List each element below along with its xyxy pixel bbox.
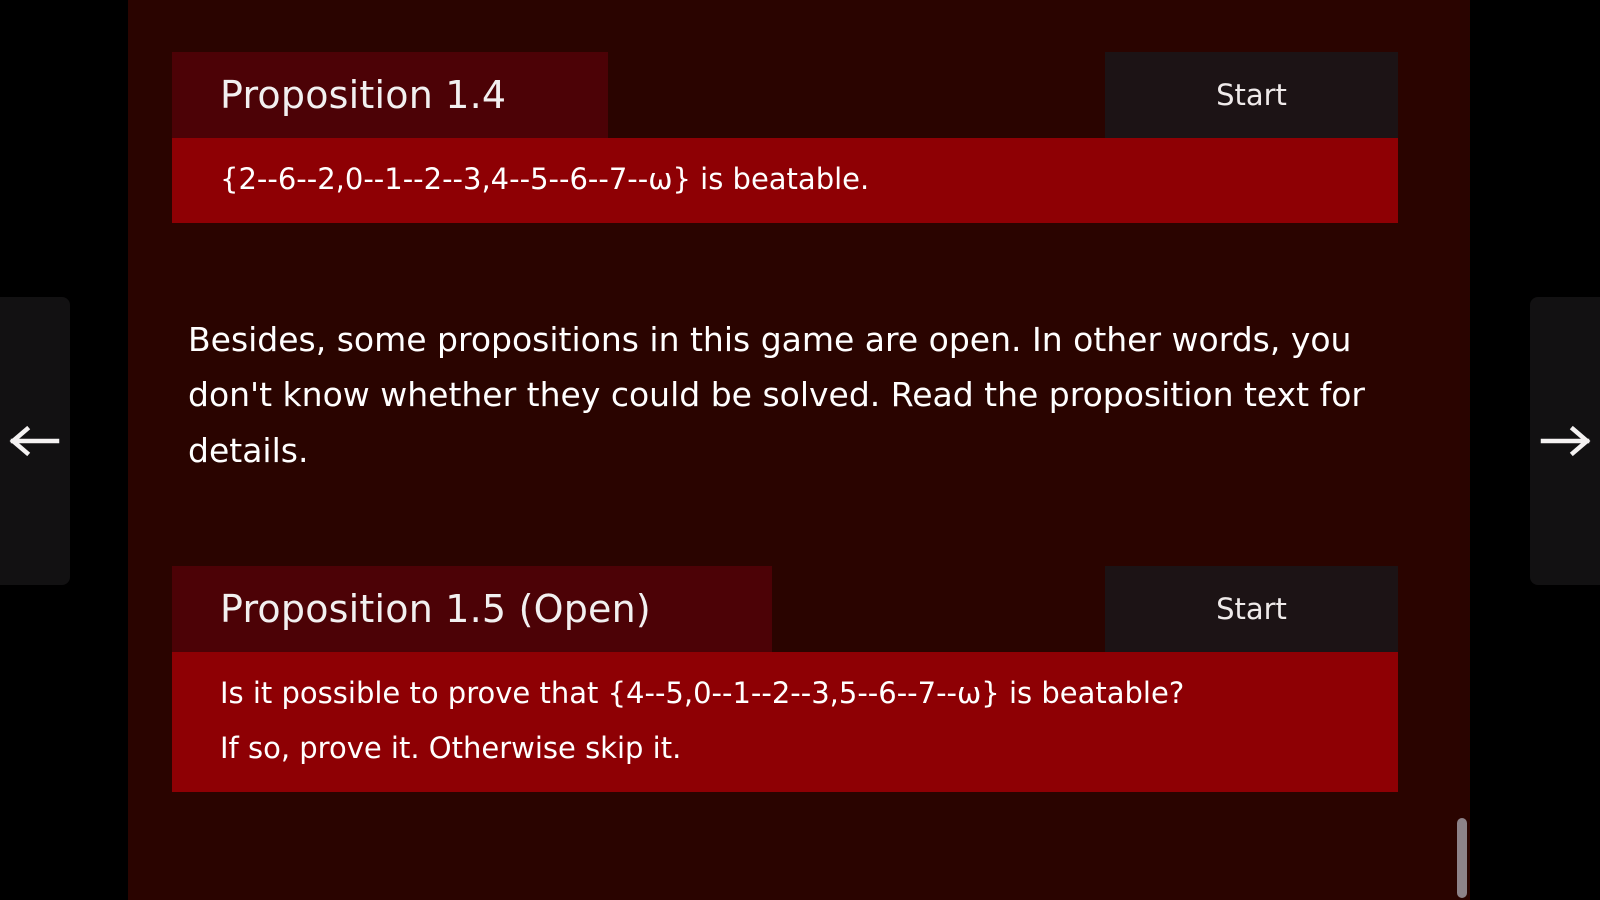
arrow-left-icon (9, 422, 61, 460)
scrollbar-thumb[interactable] (1457, 818, 1467, 898)
arrow-right-icon (1539, 422, 1591, 460)
proposition-card-1-4: Proposition 1.4 Start {2--6--2,0--1--2--… (172, 52, 1398, 223)
start-button-1-4[interactable]: Start (1105, 52, 1398, 138)
start-button-label: Start (1216, 81, 1287, 110)
proposition-title: Proposition 1.4 (220, 76, 506, 114)
proposition-title: Proposition 1.5 (Open) (220, 590, 651, 628)
proposition-statement-1-5: Is it possible to prove that {4--5,0--1-… (172, 652, 1398, 792)
intro-paragraph: Besides, some propositions in this game … (188, 312, 1373, 478)
proposition-statement-line: Is it possible to prove that {4--5,0--1-… (220, 666, 1374, 721)
proposition-title-bar: Proposition 1.5 (Open) (172, 566, 772, 652)
proposition-title-bar: Proposition 1.4 (172, 52, 608, 138)
proposition-statement-1-4: {2--6--2,0--1--2--3,4--5--6--7--ω} is be… (172, 138, 1398, 223)
app-root: Proposition 1.4 Start {2--6--2,0--1--2--… (0, 0, 1600, 900)
start-button-label: Start (1216, 595, 1287, 624)
proposition-card-1-5: Proposition 1.5 (Open) Start Is it possi… (172, 566, 1398, 792)
next-page-button[interactable] (1530, 297, 1600, 585)
proposition-statement-line: If so, prove it. Otherwise skip it. (220, 721, 1374, 776)
proposition-statement-line: {2--6--2,0--1--2--3,4--5--6--7--ω} is be… (220, 152, 1374, 207)
scrollbar-track[interactable] (1456, 0, 1468, 900)
proposition-list-panel: Proposition 1.4 Start {2--6--2,0--1--2--… (128, 0, 1470, 900)
start-button-1-5[interactable]: Start (1105, 566, 1398, 652)
proposition-header-row: Proposition 1.5 (Open) Start (172, 566, 1398, 652)
proposition-header-row: Proposition 1.4 Start (172, 52, 1398, 138)
previous-page-button[interactable] (0, 297, 70, 585)
